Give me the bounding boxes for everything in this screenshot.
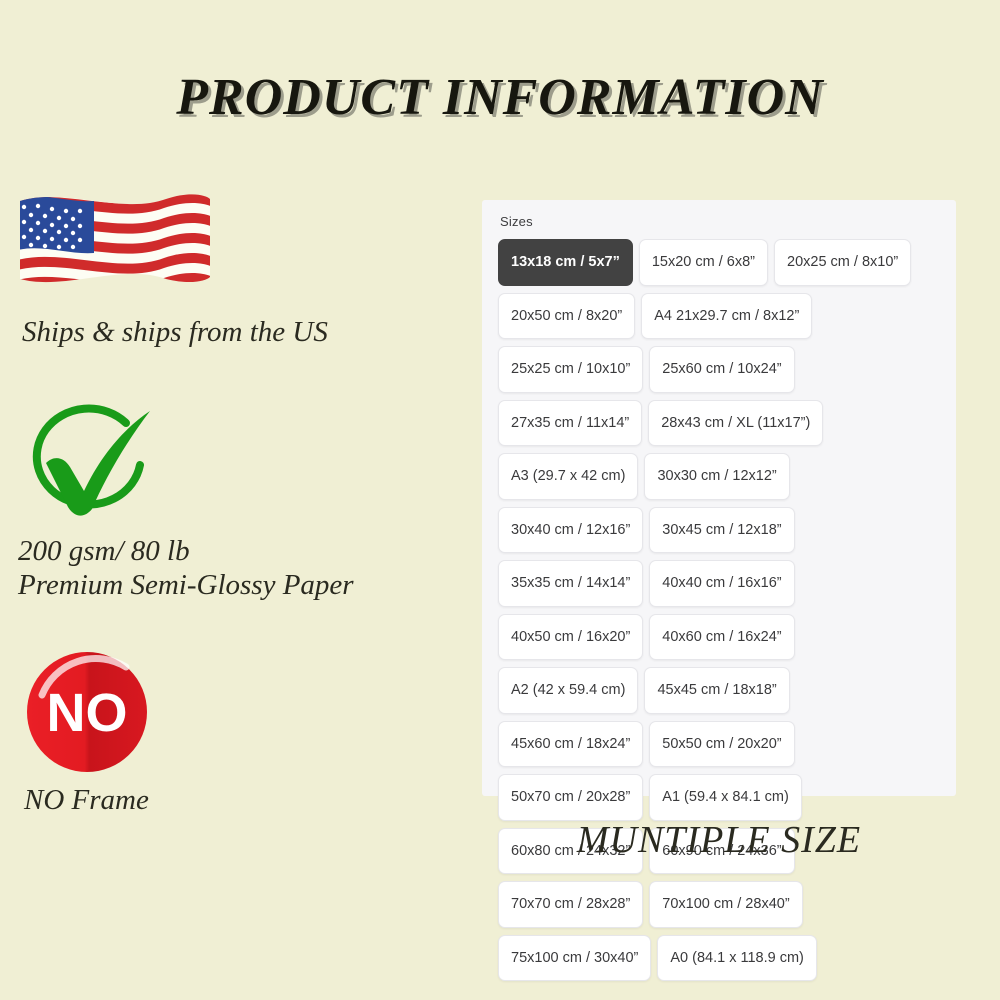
size-option-chip[interactable]: 50x70 cm / 20x28” xyxy=(498,774,643,821)
size-option-chip[interactable]: 40x40 cm / 16x16” xyxy=(649,560,794,607)
size-option-chip[interactable]: 25x60 cm / 10x24” xyxy=(649,346,794,393)
feature-caption: Ships & ships from the US xyxy=(22,315,470,349)
size-option-chip[interactable]: A0 (84.1 x 118.9 cm) xyxy=(657,935,817,982)
size-option-chip[interactable]: 40x60 cm / 16x24” xyxy=(649,614,794,661)
size-option-grid[interactable]: 13x18 cm / 5x7”15x20 cm / 6x8”20x25 cm /… xyxy=(498,239,940,981)
size-option-chip[interactable]: 45x60 cm / 18x24” xyxy=(498,721,643,768)
size-option-chip[interactable]: 45x45 cm / 18x18” xyxy=(644,667,789,714)
size-option-chip[interactable]: A4 21x29.7 cm / 8x12” xyxy=(641,293,812,340)
size-option-chip[interactable]: 40x50 cm / 16x20” xyxy=(498,614,643,661)
size-option-chip[interactable]: 70x70 cm / 28x28” xyxy=(498,881,643,928)
multiple-size-caption: MUNTIPLE SIZE xyxy=(482,818,956,862)
size-option-chip[interactable]: 30x30 cm / 12x12” xyxy=(644,453,789,500)
feature-ships-from-us: Ships & ships from the US xyxy=(0,185,470,349)
size-option-chip[interactable]: 75x100 cm / 30x40” xyxy=(498,935,651,982)
feature-list: Ships & ships from the US 200 gsm/ 80 lb… xyxy=(0,185,470,817)
size-option-chip[interactable]: 13x18 cm / 5x7” xyxy=(498,239,633,286)
sizes-panel: Sizes 13x18 cm / 5x7”15x20 cm / 6x8”20x2… xyxy=(482,200,956,796)
no-badge-text: NO xyxy=(47,683,128,743)
size-option-chip[interactable]: A1 (59.4 x 84.1 cm) xyxy=(649,774,802,821)
sizes-label: Sizes xyxy=(500,214,940,229)
size-option-chip[interactable]: 30x40 cm / 12x16” xyxy=(498,507,643,554)
size-option-chip[interactable]: 20x25 cm / 8x10” xyxy=(774,239,911,286)
size-option-chip[interactable]: 35x35 cm / 14x14” xyxy=(498,560,643,607)
size-option-chip[interactable]: A3 (29.7 x 42 cm) xyxy=(498,453,638,500)
page-title: PRODUCT INFORMATION xyxy=(0,68,1000,127)
usa-flag-icon xyxy=(14,185,214,305)
green-checkmark-icon xyxy=(18,401,168,526)
size-option-chip[interactable]: 15x20 cm / 6x8” xyxy=(639,239,768,286)
no-badge-icon: NO xyxy=(22,647,152,777)
size-option-chip[interactable]: 70x100 cm / 28x40” xyxy=(649,881,802,928)
size-option-chip[interactable]: 27x35 cm / 11x14” xyxy=(498,400,642,447)
size-option-chip[interactable]: 50x50 cm / 20x20” xyxy=(649,721,794,768)
feature-caption: NO Frame xyxy=(24,783,470,817)
feature-paper-quality: 200 gsm/ 80 lb Premium Semi-Glossy Paper xyxy=(0,401,470,602)
feature-caption: 200 gsm/ 80 lb Premium Semi-Glossy Paper xyxy=(18,534,470,602)
size-option-chip[interactable]: 28x43 cm / XL (11x17”) xyxy=(648,400,823,447)
size-option-chip[interactable]: 20x50 cm / 8x20” xyxy=(498,293,635,340)
size-option-chip[interactable]: 30x45 cm / 12x18” xyxy=(649,507,794,554)
size-option-chip[interactable]: 25x25 cm / 10x10” xyxy=(498,346,643,393)
feature-no-frame: NO NO Frame xyxy=(0,647,470,817)
size-option-chip[interactable]: A2 (42 x 59.4 cm) xyxy=(498,667,638,714)
